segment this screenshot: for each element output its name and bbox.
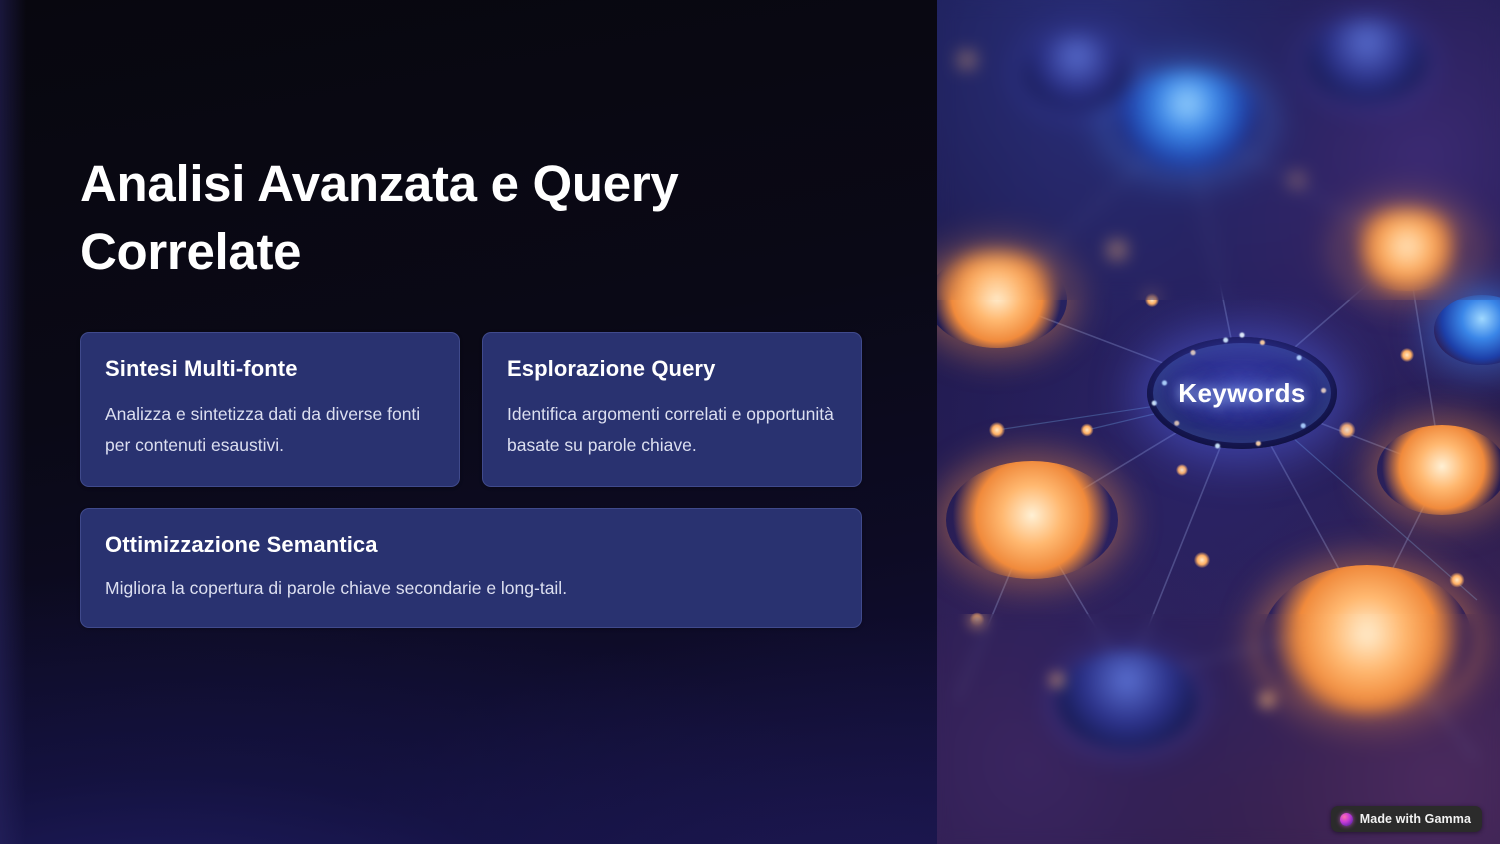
network-dot [1081, 424, 1094, 437]
network-node [1057, 651, 1197, 749]
presentation-slide: Analisi Avanzata e Query Correlate Sinte… [0, 0, 1500, 844]
network-dot [1339, 422, 1356, 439]
gamma-logo-icon [1340, 813, 1353, 826]
card-title: Ottimizzazione Semantica [105, 531, 837, 560]
network-dot [989, 422, 1005, 438]
slide-image-panel: Keywords Made with Gamma [937, 0, 1500, 844]
network-dot [1400, 348, 1414, 362]
network-dot [970, 613, 985, 628]
made-with-gamma-label: Made with Gamma [1360, 812, 1471, 826]
feature-card-sintesi-multi-fonte[interactable]: Sintesi Multi-fonte Analizza e sintetizz… [80, 332, 460, 487]
card-title: Esplorazione Query [507, 355, 837, 384]
keywords-node-label: Keywords [1178, 378, 1305, 409]
network-dot [1108, 241, 1126, 259]
keywords-node: Keywords [1147, 337, 1337, 449]
network-node [1377, 425, 1500, 515]
network-node [946, 461, 1118, 579]
network-node [1347, 209, 1467, 291]
network-node [1023, 34, 1131, 110]
page-title: Analisi Avanzata e Query Correlate [80, 150, 740, 286]
slide-content-panel: Analisi Avanzata e Query Correlate Sinte… [0, 0, 937, 844]
card-title: Sintesi Multi-fonte [105, 355, 435, 384]
network-dot [1176, 464, 1188, 476]
network-dot [1450, 573, 1465, 588]
network-dot [1259, 692, 1275, 708]
network-dot [1291, 174, 1304, 187]
network-dot [1194, 552, 1210, 568]
made-with-gamma-badge[interactable]: Made with Gamma [1331, 806, 1482, 832]
network-dot [1050, 673, 1064, 687]
network-node [1307, 18, 1427, 102]
card-row-top: Sintesi Multi-fonte Analizza e sintetizz… [80, 332, 862, 487]
card-body: Analizza e sintetizza dati da diverse fo… [105, 399, 435, 460]
card-body: Identifica argomenti correlati e opportu… [507, 399, 837, 460]
network-dot [1145, 293, 1159, 307]
network-node [1112, 70, 1262, 170]
card-body: Migliora la copertura di parole chiave s… [105, 575, 837, 602]
card-row-bottom: Ottimizzazione Semantica Migliora la cop… [80, 508, 862, 628]
network-artwork-image: Keywords [937, 0, 1500, 844]
feature-card-ottimizzazione-semantica[interactable]: Ottimizzazione Semantica Migliora la cop… [80, 508, 862, 628]
network-node [1262, 565, 1472, 715]
feature-card-esplorazione-query[interactable]: Esplorazione Query Identifica argomenti … [482, 332, 862, 487]
network-dot [959, 52, 975, 68]
feature-card-group: Sintesi Multi-fonte Analizza e sintetizz… [80, 332, 862, 649]
